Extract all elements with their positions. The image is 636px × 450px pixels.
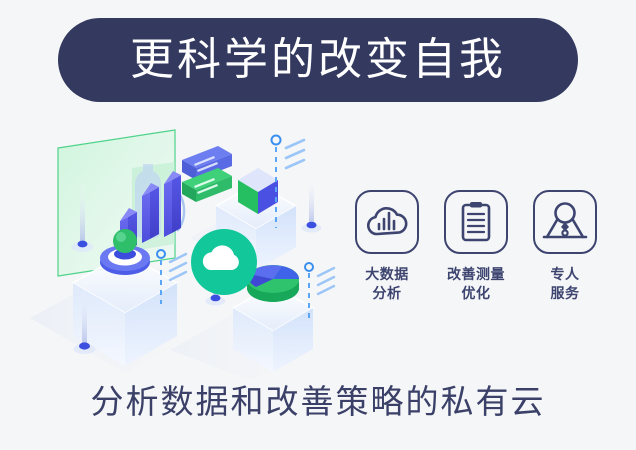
feature-item-measurement[interactable]: 改善测量 优化 [437, 190, 515, 305]
tagline: 分析数据和改善策略的私有云 [0, 382, 636, 422]
feature-label-line2: 优化 [447, 285, 505, 304]
feature-label-line2: 分析 [365, 285, 409, 304]
feature-label-line2: 服务 [551, 285, 580, 304]
feature-icon-box-measurement [444, 190, 508, 254]
poster-root: 更科学的改变自我 [0, 0, 636, 450]
feature-label-support: 专人 服务 [551, 266, 580, 305]
cloud-bar-chart-icon [365, 202, 409, 242]
feature-label-line1: 改善测量 [447, 266, 505, 285]
support-agent-icon [542, 201, 588, 243]
feature-icon-box-support [533, 190, 597, 254]
feature-label-big-data: 大数据 分析 [365, 266, 409, 305]
feature-list: 大数据 分析 改善测量 优化 [348, 190, 604, 305]
illustration-canvas [20, 118, 350, 380]
feature-label-line1: 大数据 [365, 266, 409, 285]
clipboard-icon [456, 200, 496, 244]
feature-item-support[interactable]: 专人 服务 [526, 190, 604, 305]
feature-icon-box-big-data [355, 190, 419, 254]
feature-label-measurement: 改善测量 优化 [447, 266, 505, 305]
header-banner: 更科学的改变自我 [58, 18, 578, 102]
cloud-badge [191, 229, 257, 295]
feature-label-line1: 专人 [551, 266, 580, 285]
page-title: 更科学的改变自我 [130, 38, 506, 82]
isometric-illustration [20, 118, 350, 380]
feature-item-big-data[interactable]: 大数据 分析 [348, 190, 426, 305]
